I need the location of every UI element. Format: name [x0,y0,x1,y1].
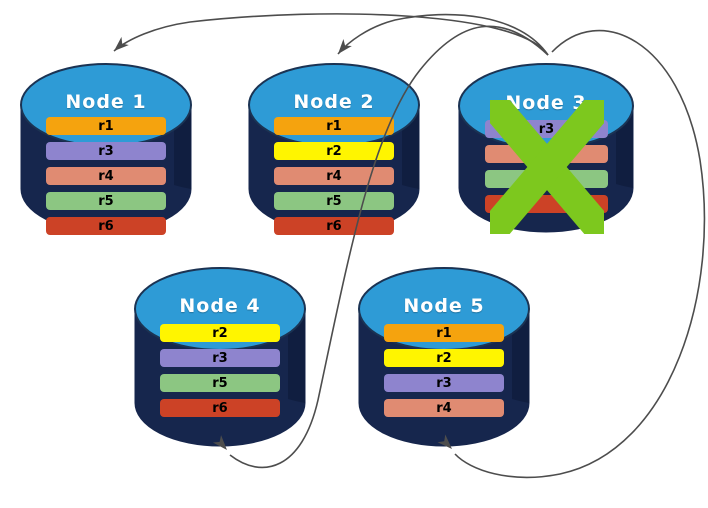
record-bar-r3[interactable]: r3 [160,349,280,367]
record-bar-r5[interactable] [485,170,608,188]
record-bar-r4[interactable]: r4 [46,167,166,185]
record-bar-r4[interactable]: r4 [274,167,394,185]
record-bar-r2[interactable]: r2 [160,324,280,342]
arrow-node3-to-node2 [334,15,548,58]
arrow-node3-to-node1 [110,14,548,55]
arrow-path [338,15,548,55]
node-label-3: Node 3 [458,92,634,114]
record-bar-r6[interactable]: r6 [46,217,166,235]
record-bar-r3[interactable]: r3 [485,120,608,138]
arrow-path [114,14,548,55]
record-bar-r5[interactable]: r5 [274,192,394,210]
diagram-canvas: Node 1r1r3r4r5r6Node 2r1r2r4r5r6Node 3r3… [0,0,708,508]
arrow-head [334,39,352,58]
record-bar-r1[interactable]: r1 [384,324,504,342]
node-cylinder-3[interactable]: Node 3r3 [458,62,634,232]
record-bar-r1[interactable]: r1 [46,117,166,135]
record-bar-r2[interactable]: r2 [274,142,394,160]
record-bar-r2[interactable]: r2 [384,349,504,367]
record-bar-r4[interactable]: r4 [384,399,504,417]
record-bar-r1[interactable]: r1 [274,117,394,135]
node-cylinder-4[interactable]: Node 4r2r3r5r6 [134,266,306,446]
record-bar-r4[interactable] [485,145,608,163]
record-bar-r5[interactable]: r5 [46,192,166,210]
node-cylinder-5[interactable]: Node 5r1r2r3r4 [358,266,530,446]
record-bar-r6[interactable]: r6 [274,217,394,235]
arrow-head [110,37,129,55]
record-bar-r3[interactable]: r3 [46,142,166,160]
node-label-5: Node 5 [358,295,530,317]
record-bar-r6[interactable] [485,195,608,213]
record-bar-r6[interactable]: r6 [160,399,280,417]
node-label-1: Node 1 [20,91,192,113]
node-cylinder-1[interactable]: Node 1r1r3r4r5r6 [20,62,192,232]
record-bar-r5[interactable]: r5 [160,374,280,392]
node-label-4: Node 4 [134,295,306,317]
record-bar-r3[interactable]: r3 [384,374,504,392]
node-cylinder-2[interactable]: Node 2r1r2r4r5r6 [248,62,420,232]
node-label-2: Node 2 [248,91,420,113]
